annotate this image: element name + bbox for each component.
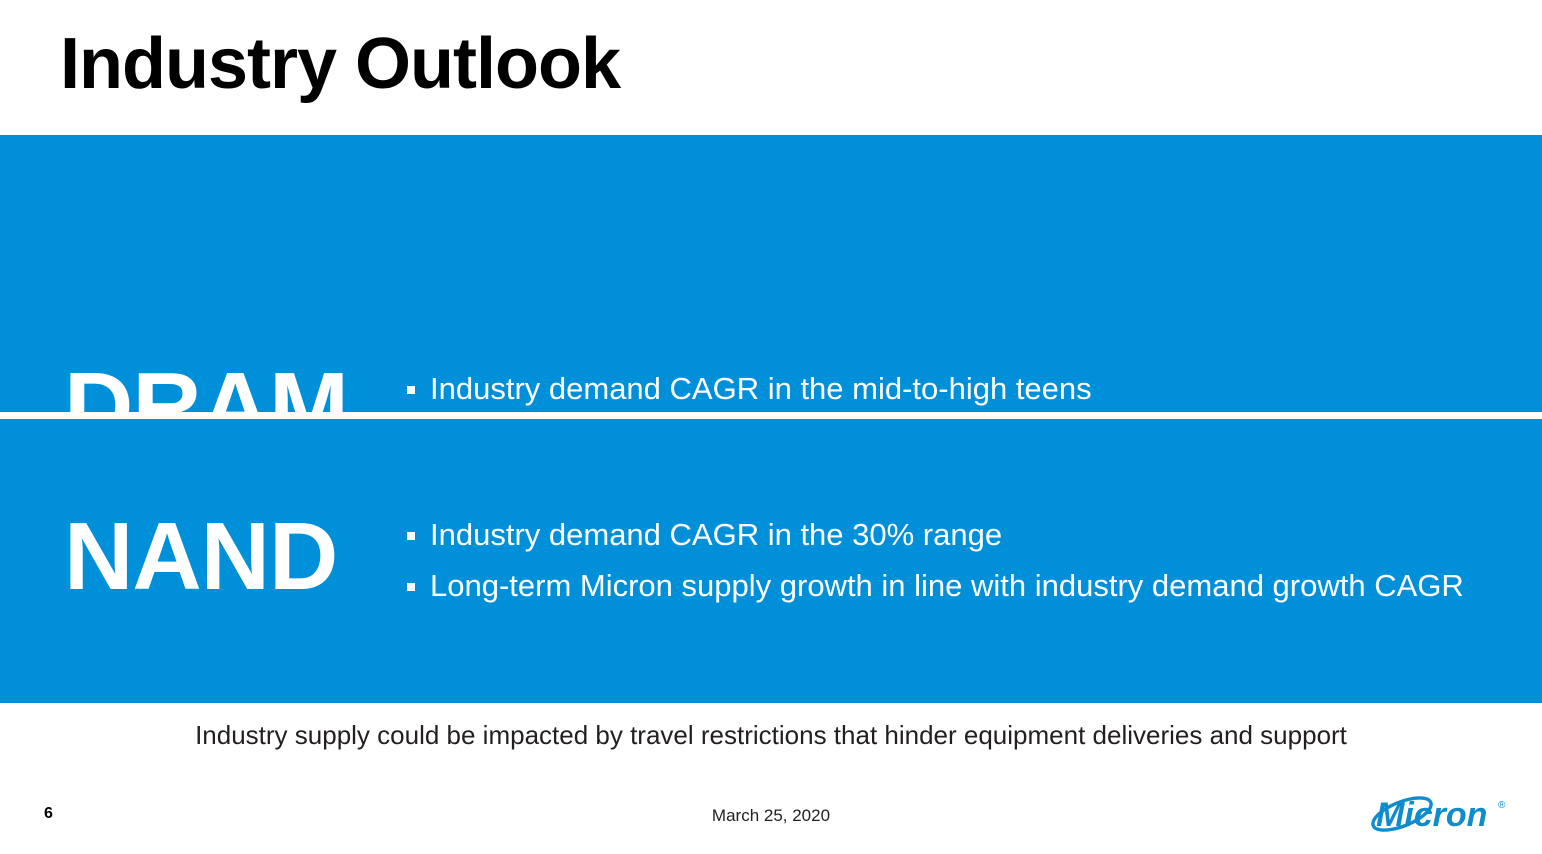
page-title: Industry Outlook: [60, 28, 620, 100]
bullet-text: Industry demand CAGR in the mid-to-high …: [430, 371, 1092, 406]
square-bullet-icon: [407, 386, 415, 394]
segment-label-nand: NAND: [64, 509, 337, 605]
footer-date: March 25, 2020: [0, 806, 1542, 826]
micron-logo: Micron ®: [1368, 788, 1518, 840]
bullet-list-nand: Industry demand CAGR in the 30% range Lo…: [400, 509, 1522, 611]
list-item: Long-term Micron supply growth in line w…: [400, 560, 1522, 611]
list-item: Industry demand CAGR in the mid-to-high …: [400, 363, 1522, 414]
square-bullet-icon: [407, 583, 415, 591]
square-bullet-icon: [407, 532, 415, 540]
panel-nand: NAND Industry demand CAGR in the 30% ran…: [0, 419, 1542, 703]
footnote-caption: Industry supply could be impacted by tra…: [0, 720, 1542, 751]
bullet-text: Long-term Micron supply growth in line w…: [430, 568, 1464, 603]
svg-text:Micron: Micron: [1376, 796, 1487, 834]
bullet-text: Industry demand CAGR in the 30% range: [430, 517, 1002, 552]
panel-dram: DRAM Industry demand CAGR in the mid-to-…: [0, 135, 1542, 412]
slide: Industry Outlook DRAM Industry demand CA…: [0, 0, 1542, 854]
svg-text:®: ®: [1498, 800, 1506, 811]
list-item: Industry demand CAGR in the 30% range: [400, 509, 1522, 560]
